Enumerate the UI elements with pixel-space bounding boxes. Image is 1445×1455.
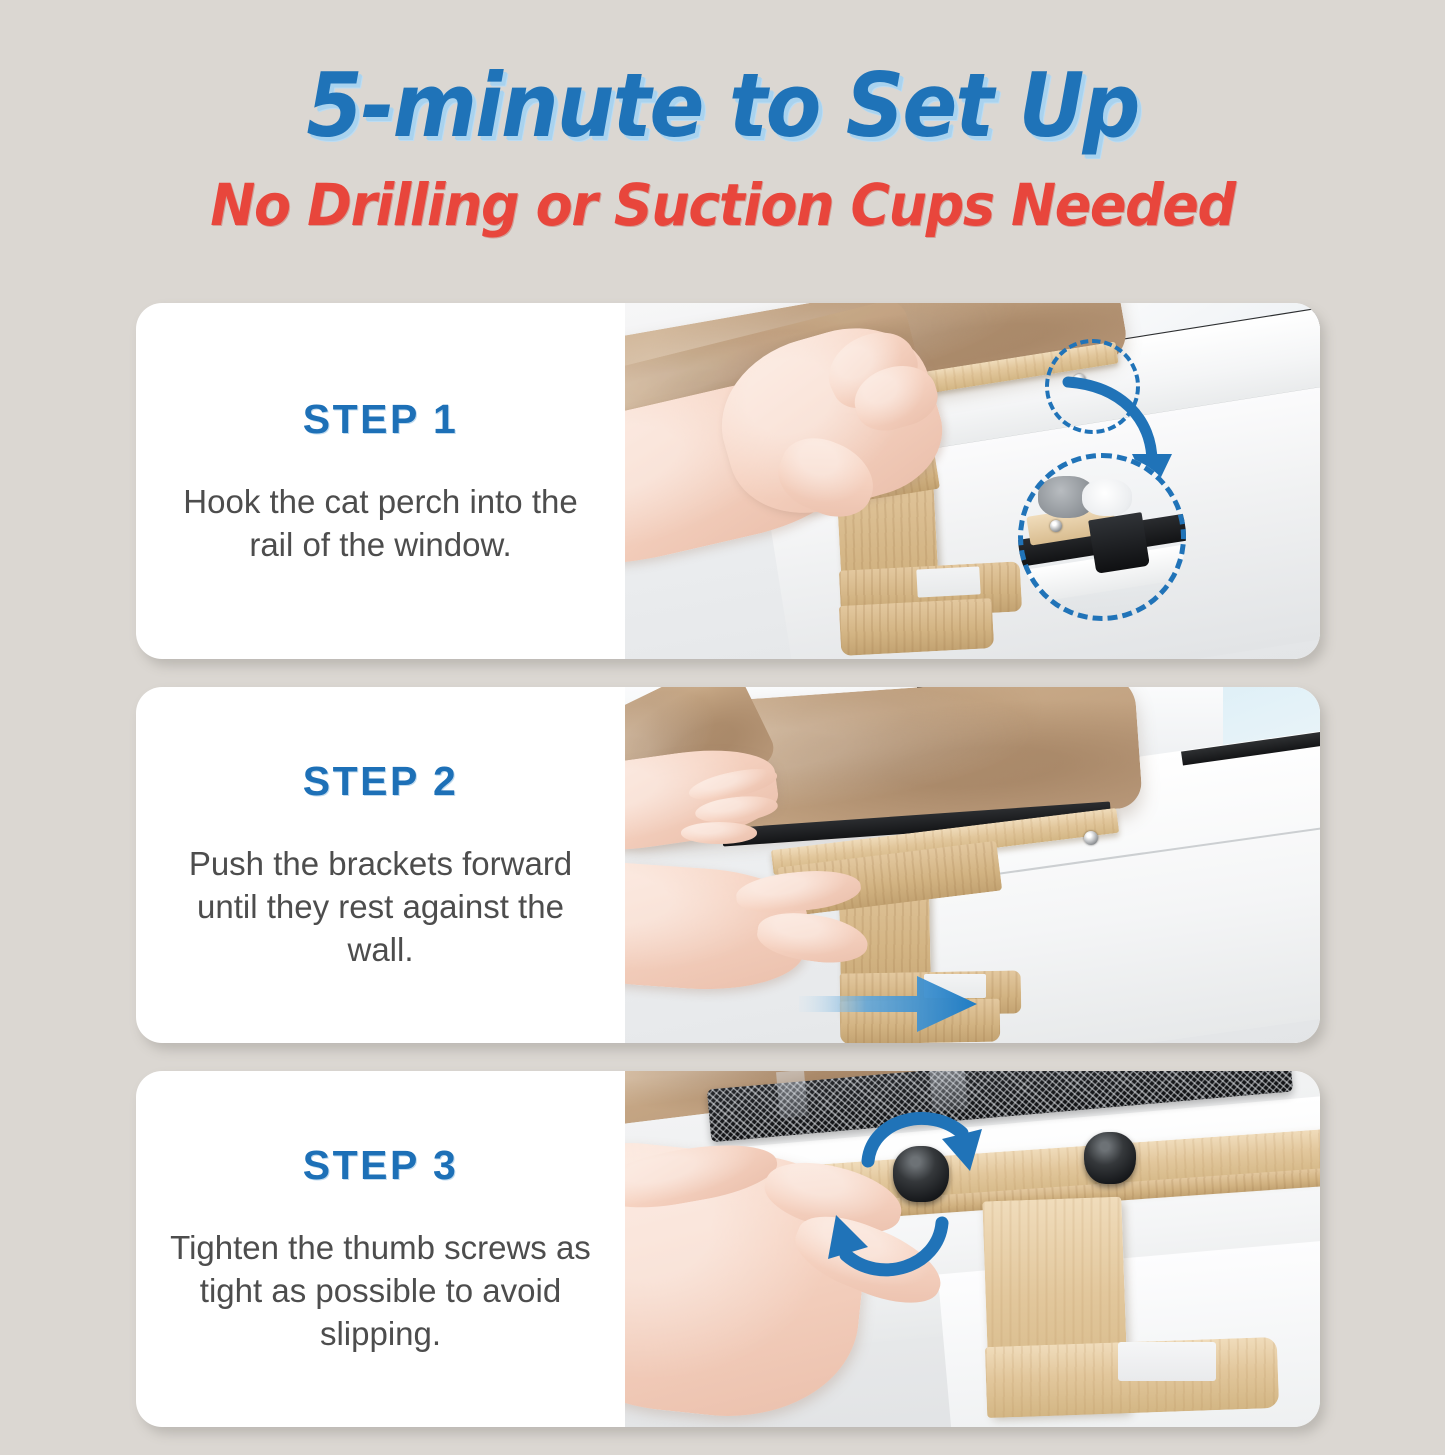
thumb-screw-far <box>1084 1132 1136 1184</box>
page-title: 5-minute to Set Up <box>58 62 1387 150</box>
mesh-fold-1 <box>776 1071 808 1118</box>
step-1-body: Hook the cat perch into the rail of the … <box>161 481 601 567</box>
bamboo-hook-tip <box>839 598 994 656</box>
header: 5-minute to Set Up No Drilling or Suctio… <box>0 0 1445 234</box>
step-2-text-column: STEP 2 Push the brackets forward until t… <box>136 687 625 1043</box>
steps-list: STEP 1 Hook the cat perch into the rail … <box>136 303 1320 1455</box>
rail-screw-right <box>1084 831 1098 845</box>
step-card-3: STEP 3 Tighten the thumb screws as tight… <box>136 1071 1320 1427</box>
step-1-label: STEP 1 <box>303 396 459 443</box>
rotate-arrow-top-icon <box>858 1099 988 1195</box>
rotate-arrow-bottom-icon <box>820 1203 954 1299</box>
step-3-label: STEP 3 <box>303 1142 459 1189</box>
step-3-body: Tighten the thumb screws as tight as pos… <box>161 1227 601 1356</box>
hook-notch <box>916 567 980 599</box>
step-3-text-column: STEP 3 Tighten the thumb screws as tight… <box>136 1071 625 1427</box>
push-arrow-icon <box>799 968 989 1040</box>
page-subtitle: No Drilling or Suction Cups Needed <box>51 176 1395 234</box>
step-1-photo <box>625 303 1320 659</box>
step-1-text-column: STEP 1 Hook the cat perch into the rail … <box>136 303 625 659</box>
step-card-2: STEP 2 Push the brackets forward until t… <box>136 687 1320 1043</box>
step-card-1: STEP 1 Hook the cat perch into the rail … <box>136 303 1320 659</box>
step-2-photo <box>625 687 1320 1043</box>
step-3-photo <box>625 1071 1320 1427</box>
detail-inset <box>1018 453 1186 621</box>
detail-inset-ring-icon <box>1018 453 1186 621</box>
step-2-body: Push the brackets forward until they res… <box>161 843 601 972</box>
step-2-label: STEP 2 <box>303 758 459 805</box>
support-foot-notch <box>1118 1342 1215 1381</box>
